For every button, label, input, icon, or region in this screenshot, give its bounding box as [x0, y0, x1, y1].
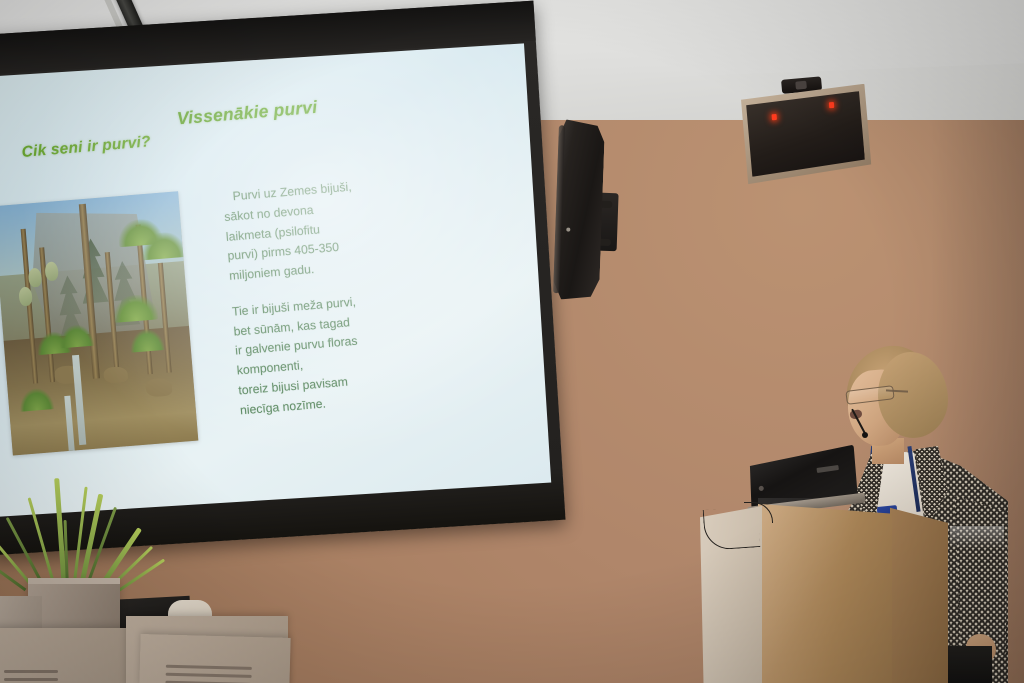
illustration-fern	[19, 387, 55, 412]
slide-body: Purvi uz Zemes bijuši, sākot no devona l…	[222, 173, 432, 437]
av-panel-led	[772, 114, 777, 120]
illustration-rock	[145, 377, 172, 397]
av-panel-led	[829, 102, 834, 108]
microphone-capsule-icon	[862, 432, 868, 438]
presentation-room-photo: Cik seni ir purvi? Vissenākie purvi Purv…	[0, 0, 1024, 683]
illustration-bulb	[28, 268, 42, 288]
av-panel[interactable]	[738, 84, 872, 185]
wall-speaker	[553, 119, 609, 301]
potted-plant	[10, 470, 180, 590]
slide-paragraph-2: Tie ir bijuši meža purvi, bet sūnām, kas…	[231, 287, 430, 421]
presenter-cuff	[950, 526, 1004, 548]
slide-heading-right: Vissenākie purvi	[176, 97, 318, 130]
camera-lens-icon	[795, 81, 807, 90]
chair-back	[139, 634, 290, 683]
slide-paragraph-1: Purvi uz Zemes bijuši, sākot no devona l…	[222, 173, 419, 287]
podium-sheen	[758, 498, 892, 683]
podium	[700, 498, 950, 683]
planter-rim	[28, 578, 120, 584]
illustration-rock	[103, 366, 128, 384]
slide-illustration	[0, 191, 198, 455]
slide-surface: Cik seni ir purvi? Vissenākie purvi Purv…	[0, 43, 551, 516]
illustration-fern	[130, 328, 166, 353]
podium-right-panel	[890, 504, 948, 683]
chair-back	[0, 628, 126, 683]
slide-heading-left: Cik seni ir purvi?	[21, 133, 151, 162]
presenter-trousers	[944, 646, 992, 683]
